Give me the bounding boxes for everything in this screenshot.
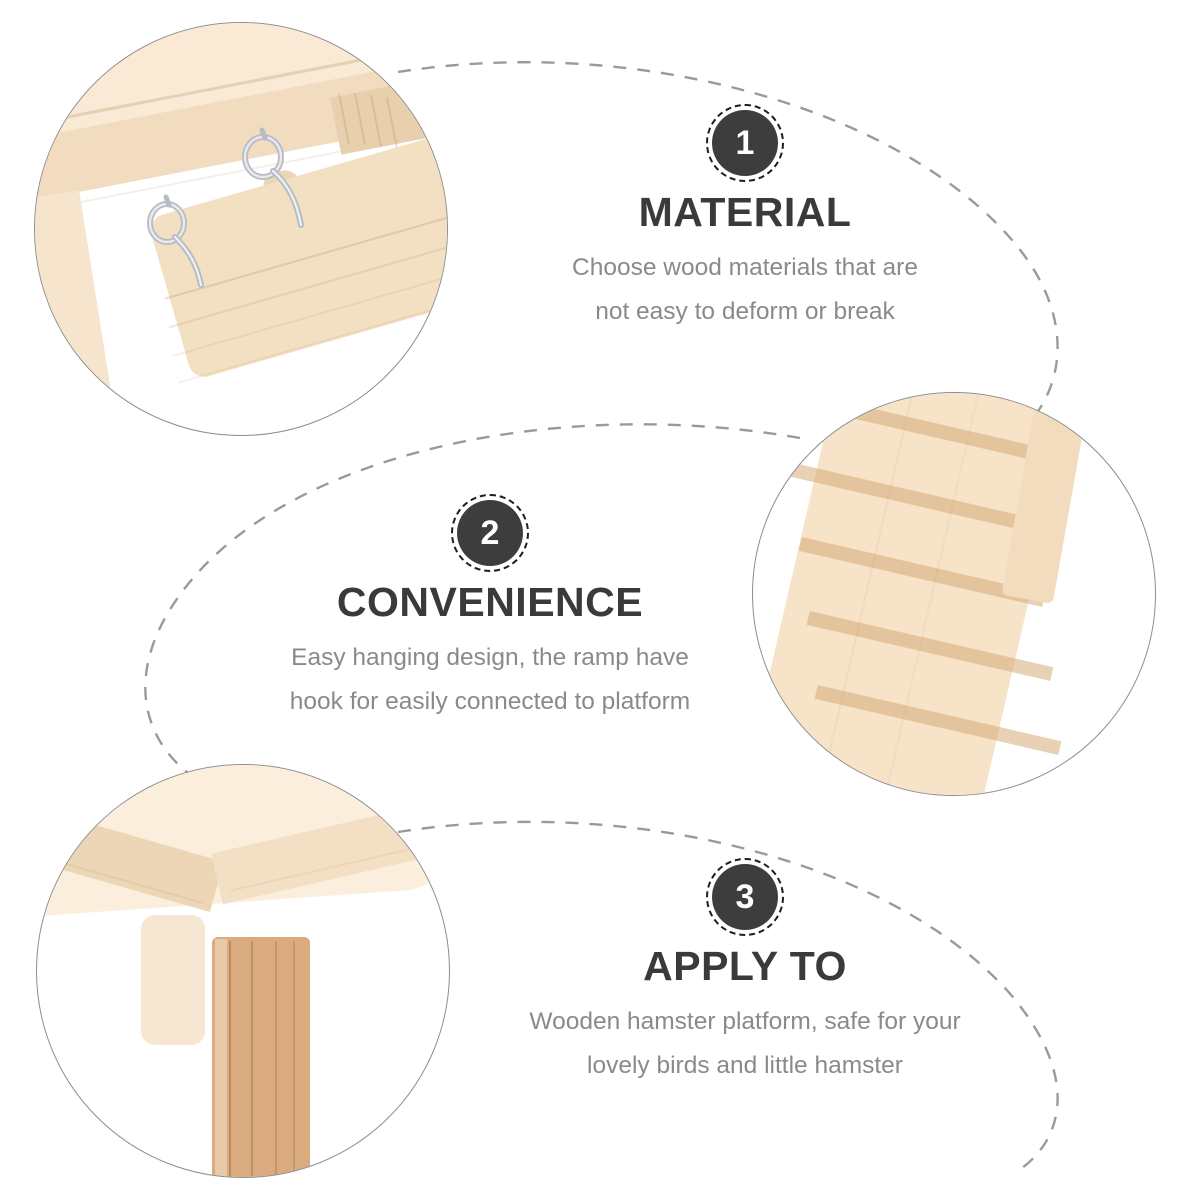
leg-grain (293, 941, 295, 1178)
step-desc-line2-2: hook for easily connected to platform (230, 681, 750, 723)
step-badge-1: 1 (712, 110, 778, 176)
step-badge-3: 3 (712, 864, 778, 930)
leg-grain (251, 941, 253, 1178)
step-number-2: 2 (481, 514, 500, 552)
step-desc-line2-1: not easy to deform or break (485, 291, 1005, 333)
metal-hook-icon (233, 127, 329, 233)
photo-material (34, 22, 448, 436)
photo-convenience (752, 392, 1156, 796)
step-number-3: 3 (736, 878, 755, 916)
step-desc-line1-1: Choose wood materials that are (485, 247, 1005, 289)
step-title-2: CONVENIENCE (230, 580, 750, 625)
step-desc-line1-2: Easy hanging design, the ramp have (230, 637, 750, 679)
step-title-1: MATERIAL (485, 190, 1005, 235)
step-number-1: 1 (736, 124, 755, 162)
step-desc-line1-3: Wooden hamster platform, safe for your (485, 1001, 1005, 1043)
step-material: 1 MATERIAL Choose wood materials that ar… (485, 110, 1005, 333)
leg-grain (275, 941, 277, 1178)
leg-highlight (215, 939, 227, 1178)
step-title-3: APPLY TO (485, 944, 1005, 989)
platform-rear-leg (141, 915, 205, 1045)
wood-left-support (34, 190, 118, 436)
leg-grain (229, 941, 231, 1178)
step-convenience: 2 CONVENIENCE Easy hanging design, the r… (230, 500, 750, 723)
infographic-page: 1 MATERIAL Choose wood materials that ar… (0, 0, 1200, 1200)
step-apply-to: 3 APPLY TO Wooden hamster platform, safe… (485, 864, 1005, 1087)
step-desc-line2-3: lovely birds and little hamster (485, 1045, 1005, 1087)
photo-apply-to-content (37, 765, 449, 1177)
photo-material-content (35, 23, 447, 435)
step-badge-2: 2 (457, 500, 523, 566)
photo-apply-to (36, 764, 450, 1178)
photo-convenience-content (753, 393, 1155, 795)
metal-hook-icon (139, 193, 229, 293)
